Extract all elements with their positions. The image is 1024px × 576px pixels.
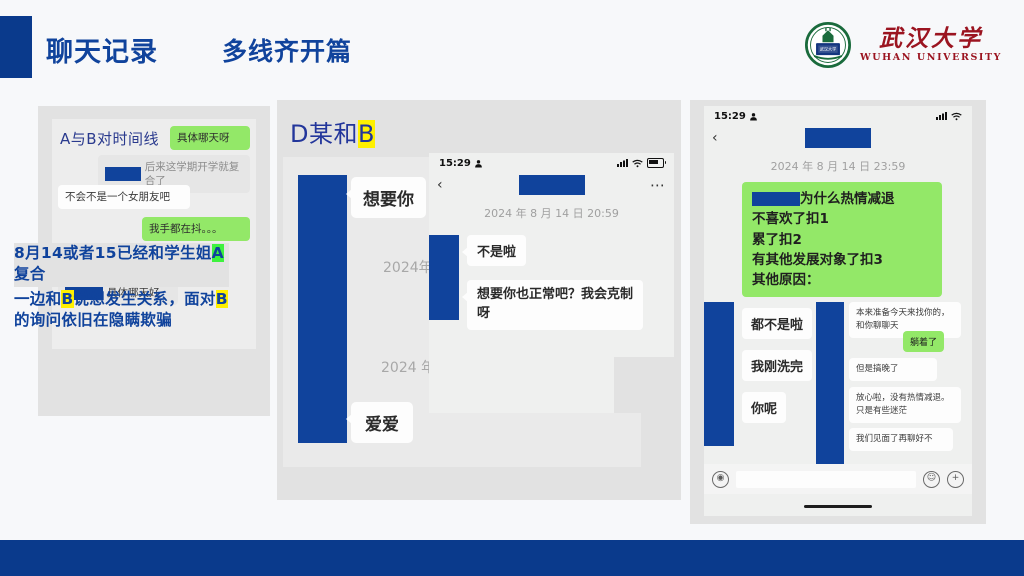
green-line: 累了扣2: [752, 230, 932, 250]
wuhan-university-seal-icon: 武汉大学: [805, 22, 851, 68]
status-bar-right: [617, 158, 664, 168]
chat-bubble: 你呢: [742, 392, 786, 423]
status-bar: 15:29: [429, 153, 674, 173]
chat-bubble: 但是搞晚了: [849, 358, 937, 381]
highlight-a: A: [212, 244, 224, 262]
redaction-block: [816, 302, 844, 468]
emoji-smiley-icon[interactable]: ☺: [923, 471, 940, 488]
right-phone-screenshot: 15:29 ‹ 2024 年 8 月 14 日 23:59 为什: [704, 106, 972, 516]
annotation-line-1: 8月14或者15已经和学生姐A复合: [14, 243, 229, 287]
voice-speaker-icon[interactable]: ◉: [712, 471, 729, 488]
chat-bubble: 想要你: [351, 177, 426, 218]
redaction-block: [805, 128, 871, 148]
chat-bubble: 爱爱: [351, 402, 413, 443]
highlight-b2: B: [216, 290, 228, 308]
plus-circle-icon[interactable]: +: [947, 471, 964, 488]
signal-bars-icon: [936, 112, 947, 120]
chat-bubble: 具体哪天呀: [170, 126, 250, 150]
date-separator: 2024年: [383, 257, 433, 277]
highlight-b: B: [358, 120, 375, 148]
redaction-block: [105, 167, 141, 181]
chat-bubble: 我们见面了再聊好不: [849, 428, 953, 451]
chat-bubble-green: 躺着了: [903, 331, 944, 352]
footer-bar: [0, 540, 1024, 576]
middle-phone-screenshot: 15:29 ‹ ⋯ 2024 年 8 月 14 日 20:: [429, 153, 674, 413]
redaction-block: [429, 235, 459, 320]
wifi-icon: [951, 112, 962, 121]
left-chat-title: A与B对时间线: [60, 128, 159, 149]
person-icon: [749, 112, 758, 121]
message-input-bar: ◉ ☺ +: [704, 464, 972, 494]
status-bar-right: [936, 112, 962, 121]
message-input[interactable]: [736, 471, 916, 488]
chevron-left-icon[interactable]: ‹: [437, 177, 443, 193]
logo-english-name: WUHAN UNIVERSITY: [860, 53, 1002, 63]
panel-corner-block: [614, 357, 674, 413]
phone-nav-bar: ‹: [704, 128, 972, 154]
middle-panel-title: D某和B: [290, 114, 375, 149]
logo-chinese-name: 武汉大学: [879, 27, 983, 50]
annotation-line-2: 一边和B说想发生关系，面对B的询问依旧在隐瞒欺骗: [14, 287, 229, 331]
status-bar: 15:29: [704, 106, 972, 126]
green-line: 其他原因：: [752, 270, 932, 290]
university-logo: 武汉大学 武汉大学 WUHAN UNIVERSITY: [805, 22, 1002, 68]
chat-bubble: 想要你也正常吧？我会克制呀: [467, 280, 643, 330]
chevron-left-icon[interactable]: ‹: [712, 130, 718, 146]
highlight-b1: B: [61, 290, 73, 308]
redaction-block: [519, 175, 585, 195]
green-line: 为什么热情减退: [752, 189, 932, 209]
date-separator: 2024 年 8 月 14 日 20:59: [484, 205, 619, 221]
date-separator: 2024 年 8 月 14 日 23:59: [771, 158, 906, 174]
redaction-block: [298, 175, 347, 443]
middle-panel: D某和B 想要你 2024年 2024 年 8 月 14 日 20:15 爱爱 …: [277, 100, 681, 500]
status-bar-left: 15:29: [439, 158, 483, 169]
redaction-block: [704, 302, 734, 446]
header-accent-block: [0, 16, 32, 78]
chat-bubble: 放心啦，没有热情减退。只是有些迷茫: [849, 387, 961, 423]
page-subtitle: 多线齐开篇: [222, 32, 352, 68]
wifi-icon: [632, 159, 643, 168]
left-panel-annotation: 8月14或者15已经和学生姐A复合 一边和B说想发生关系，面对B的询问依旧在隐瞒…: [14, 243, 229, 331]
more-dots-icon[interactable]: ⋯: [650, 176, 666, 194]
battery-icon: [647, 158, 664, 168]
chat-bubble: 不会不是一个女朋友吧: [58, 185, 190, 209]
green-line: 不喜欢了扣1: [752, 209, 932, 229]
redaction-block: [752, 192, 800, 206]
chat-bubble-green: 为什么热情减退 不喜欢了扣1 累了扣2 有其他发展对象了扣3 其他原因：: [742, 182, 942, 297]
status-time: 15:29: [439, 158, 471, 169]
chat-bubble: 不是啦: [467, 235, 526, 266]
phone-nav-bar: ‹ ⋯: [429, 175, 674, 201]
home-indicator-bar: [804, 505, 872, 509]
chat-bubble: 我刚洗完: [742, 350, 812, 381]
status-bar-left: 15:29: [714, 111, 758, 122]
person-icon: [474, 159, 483, 168]
chat-bubble: 我手都在抖。。。: [142, 217, 250, 241]
green-line: 有其他发展对象了扣3: [752, 250, 932, 270]
right-panel: 15:29 ‹ 2024 年 8 月 14 日 23:59 为什: [690, 100, 986, 524]
status-time: 15:29: [714, 111, 746, 122]
signal-bars-icon: [617, 159, 628, 167]
page-title: 聊天记录: [46, 30, 158, 69]
svg-text:武汉大学: 武汉大学: [820, 46, 837, 52]
chat-bubble: 都不是啦: [742, 308, 812, 339]
